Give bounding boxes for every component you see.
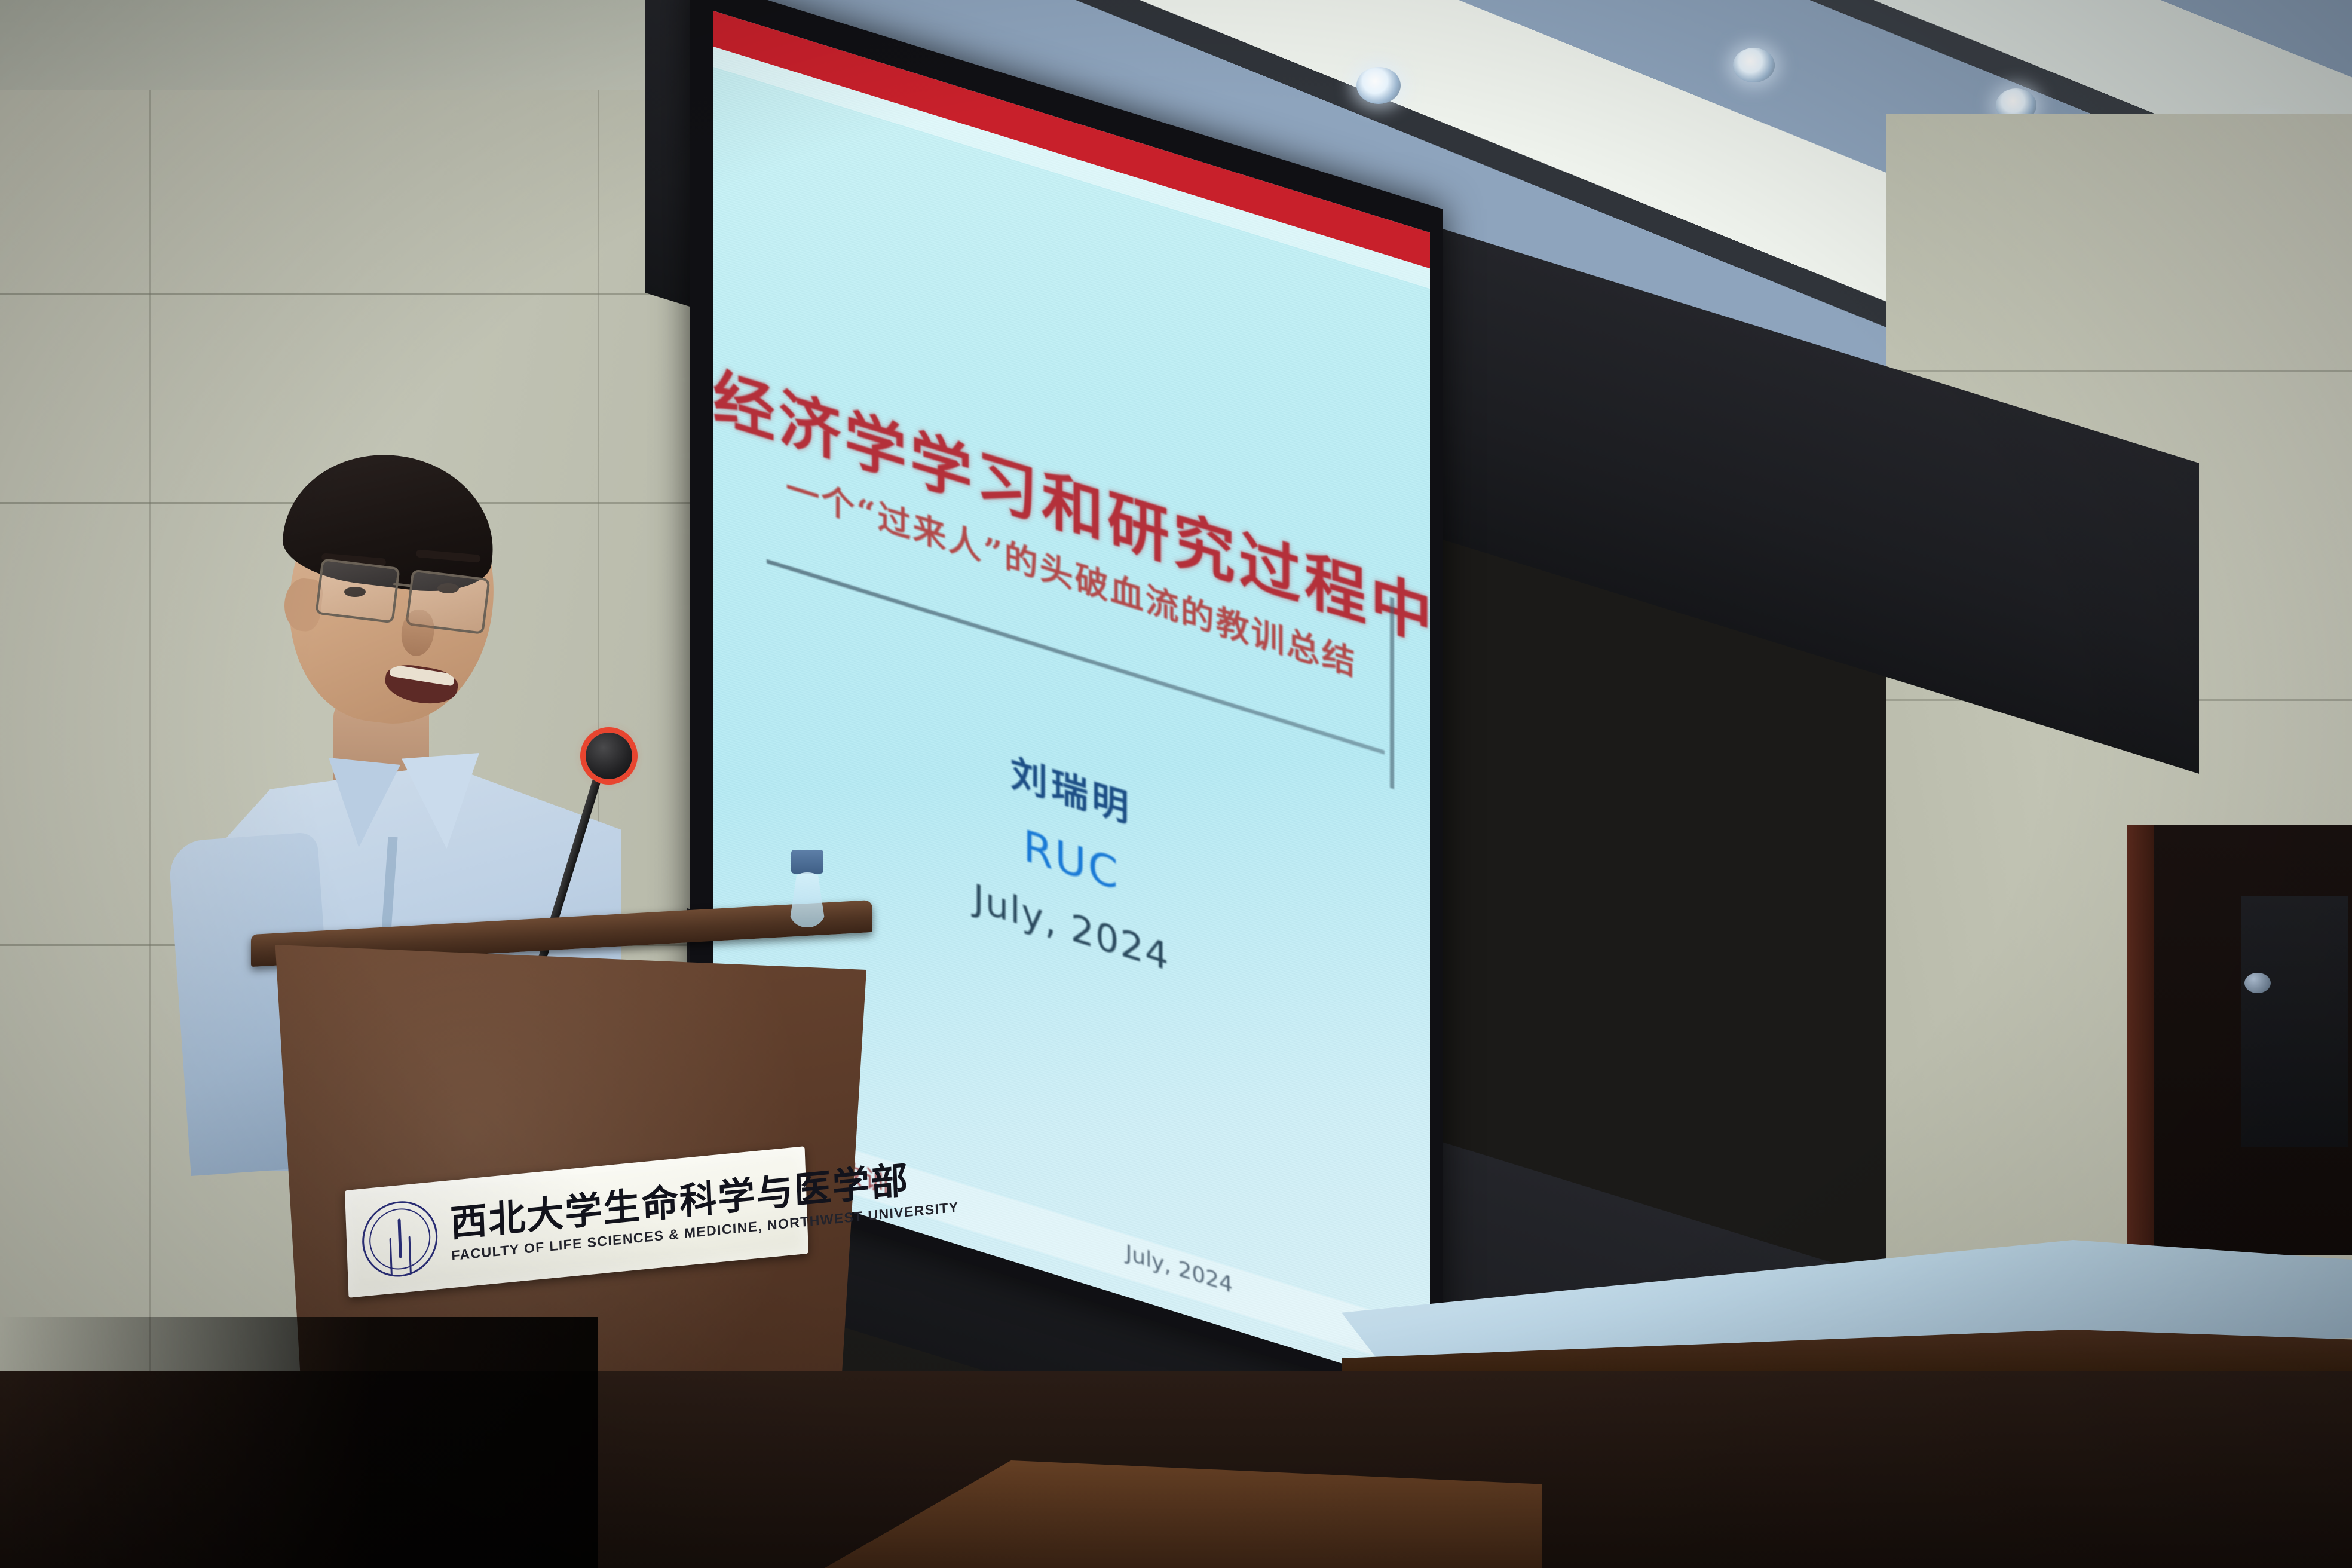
microphone-icon (586, 733, 632, 779)
slide-footer-center: July, 2024 (1126, 1241, 1233, 1298)
bottle-body (789, 872, 826, 927)
downlight-icon (1356, 67, 1401, 104)
wood-post (2127, 825, 2154, 1255)
water-bottle-podium (783, 850, 832, 926)
av-equipment (2241, 896, 2348, 1147)
lens-left (315, 558, 400, 623)
shadow-overlay-left (0, 1317, 598, 1568)
downlight-icon (1733, 48, 1775, 82)
university-seal-icon (361, 1198, 439, 1281)
equipment-knob-icon (2244, 973, 2271, 993)
right-wall-recess (2127, 825, 2352, 1255)
bottle-cap (791, 850, 823, 874)
slide-vertical-accent (1390, 596, 1394, 789)
lecture-hall-scene: 经济学学习和研究过程中的若干误区： 一个“过来人”的头破血流的教训总结 刘瑞明 … (0, 0, 2352, 1568)
podium-nameplate-text: 西北大学生命科学与医学部 FACULTY OF LIFE SCIENCES & … (449, 1171, 797, 1264)
